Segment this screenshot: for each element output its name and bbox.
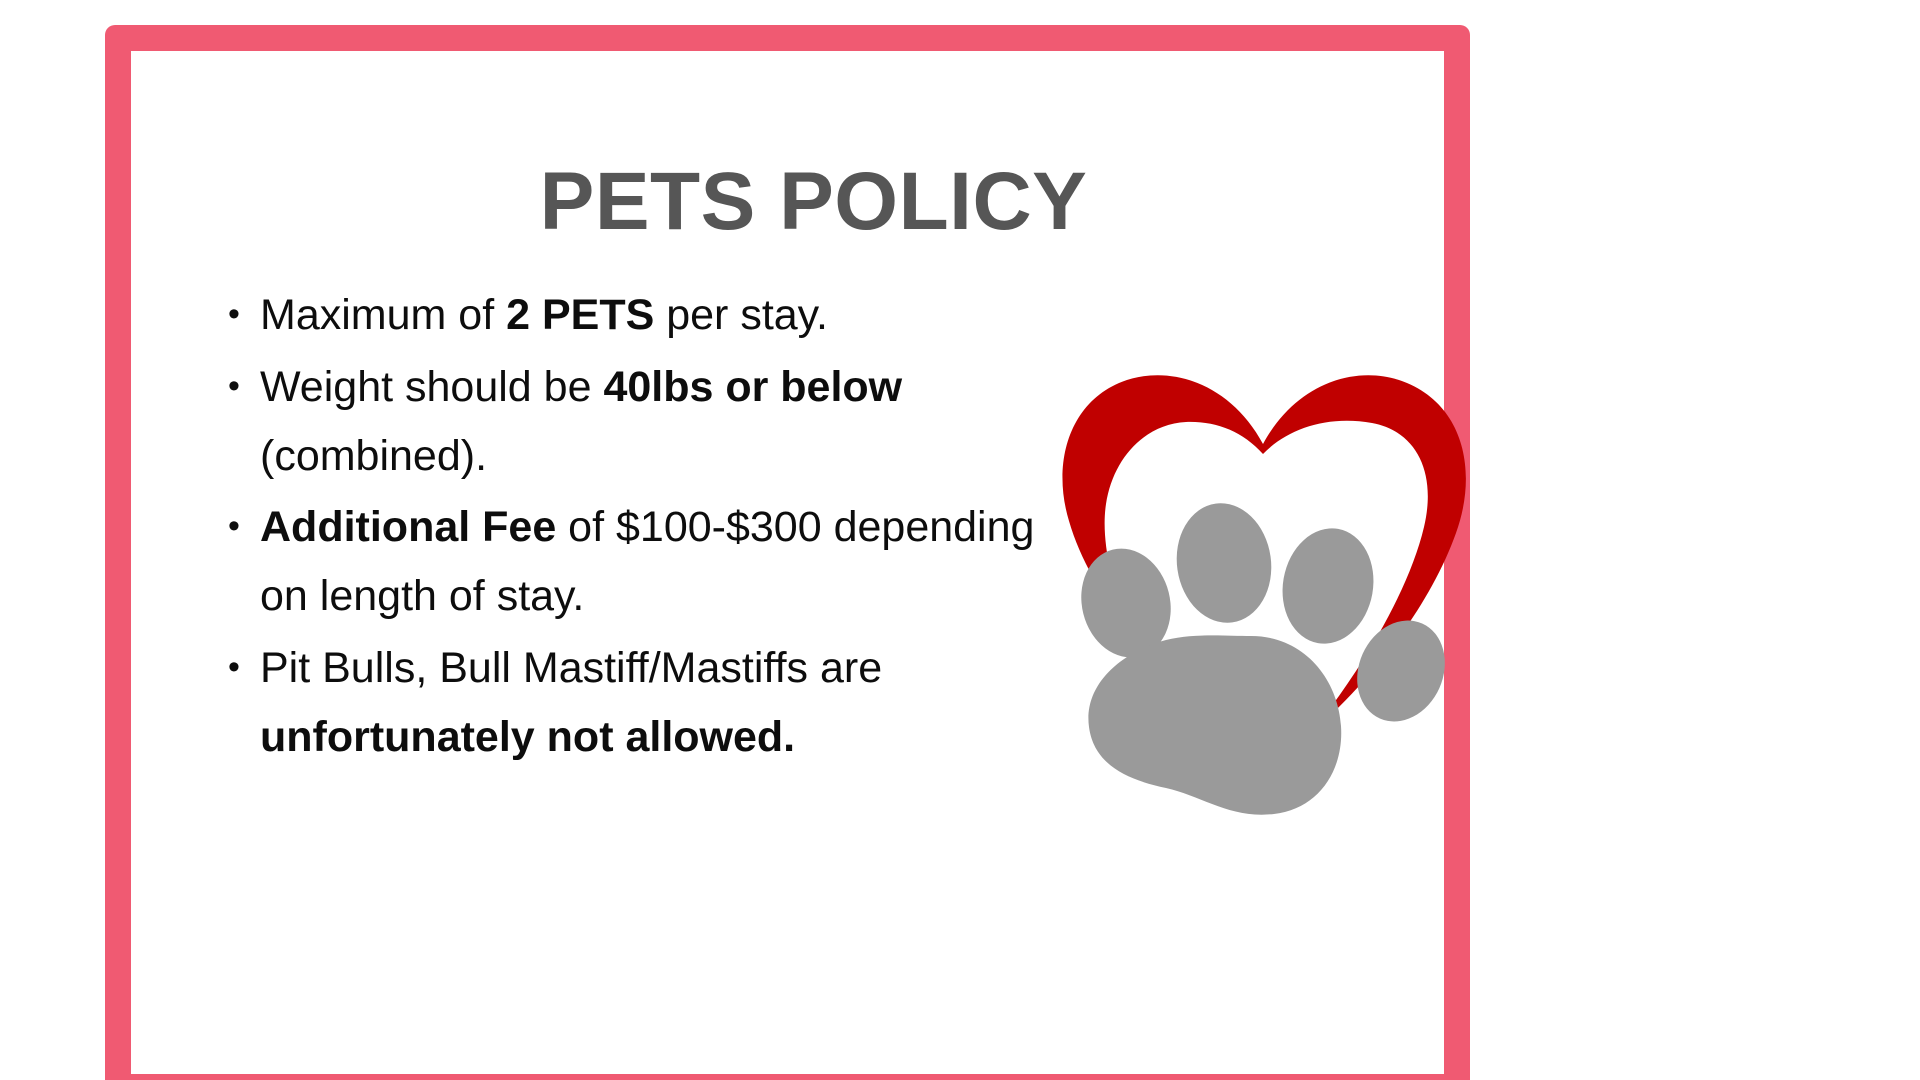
paw-icon — [1070, 497, 1461, 815]
paw-toe-inner-left — [1169, 497, 1279, 629]
policy-text-segment: Maximum of — [260, 291, 506, 339]
poster-frame: PETS POLICY Maximum of 2 PETS per stay. … — [105, 25, 1470, 1080]
policy-text-segment: Weight should be — [260, 363, 603, 411]
paw-toe-inner-right — [1274, 521, 1383, 651]
list-item-max-pets: Maximum of 2 PETS per stay. — [226, 281, 1046, 350]
policy-text-segment: per stay. — [654, 291, 828, 339]
policy-text-segment-bold: unfortunately not allowed. — [260, 713, 795, 761]
policy-text-segment-bold: Additional Fee — [260, 503, 556, 551]
list-item-breed-restriction: Pit Bulls, Bull Mastiff/Mastiffs are unf… — [226, 634, 1046, 772]
list-item-additional-fee: Additional Fee of $100-$300 depending on… — [226, 493, 1046, 631]
list-item-weight-limit: Weight should be 40lbs or below (combine… — [226, 353, 1046, 491]
paw-in-heart-logo — [1016, 341, 1516, 821]
poster-content: PETS POLICY Maximum of 2 PETS per stay. … — [131, 51, 1496, 1080]
policy-text-segment-bold: 2 PETS — [506, 291, 654, 339]
policy-text-segment: (combined). — [260, 432, 487, 480]
policy-list: Maximum of 2 PETS per stay. Weight shoul… — [226, 281, 1046, 775]
paw-main-pad — [1088, 635, 1341, 814]
policy-text-segment-bold: 40lbs or below — [603, 363, 902, 411]
policy-text-segment: Pit Bulls, Bull Mastiff/Mastiffs are — [260, 644, 882, 692]
page-title: PETS POLICY — [131, 161, 1496, 243]
paw-toe-outer-right — [1341, 606, 1460, 735]
pets-policy-poster: PETS POLICY Maximum of 2 PETS per stay. … — [0, 0, 1920, 1080]
